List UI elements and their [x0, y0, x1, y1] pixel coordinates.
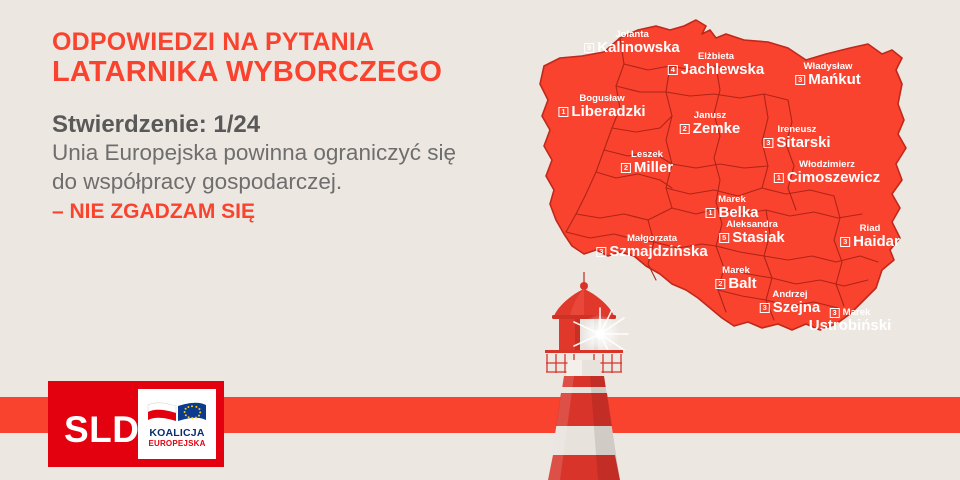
poster-canvas: ODPOWIEDZI NA PYTANIA LATARNIKA WYBORCZE… — [0, 0, 960, 480]
candidate-last-name: Miller — [634, 160, 673, 175]
district-number: 9 — [584, 43, 594, 53]
district-number: 2 — [715, 279, 725, 289]
headline-block: ODPOWIEDZI NA PYTANIA LATARNIKA WYBORCZE… — [52, 28, 492, 89]
candidate-last-name: Szmajdzińska — [609, 244, 707, 259]
district-number: 3 — [596, 247, 606, 257]
map-label-stasiak: Aleksandra 5 Stasiak — [719, 220, 785, 245]
koalicja-europejska-logo: KOALICJA EUROPEJSKA — [138, 389, 216, 459]
district-number: 1 — [774, 173, 784, 183]
map-label-jachlewska: Elżbieta 4 Jachlewska — [668, 52, 764, 77]
map-label-belka: Marek 1 Belka — [705, 195, 758, 220]
district-number: 2 — [680, 124, 690, 134]
candidate-last-name: Belka — [718, 205, 758, 220]
europejska-label: EUROPEJSKA — [148, 440, 205, 448]
map-label-zemke: Janusz 2 Zemke — [680, 111, 741, 136]
koalicja-label: KOALICJA — [149, 428, 204, 439]
statement-text: Unia Europejska powinna ograniczyć się d… — [52, 139, 472, 196]
statement-block: Stwierdzenie: 1/24 Unia Europejska powin… — [52, 110, 502, 225]
district-number: 1 — [558, 107, 568, 117]
map-label-sitarski: Ireneusz 3 Sitarski — [763, 125, 830, 150]
map-label-liberadzki: Bogusław 1 Liberadzki — [558, 94, 645, 119]
district-number: 3 — [840, 237, 850, 247]
candidate-last-name: Zemke — [693, 121, 741, 136]
district-number: 3 — [760, 303, 770, 313]
sld-logo-block: SLD — [48, 381, 224, 467]
candidate-last-name: Ustrobiński — [809, 318, 892, 333]
map-label-mankut: Władysław 3 Mańkut — [795, 62, 861, 87]
candidate-last-name: Balt — [728, 276, 756, 291]
map-label-ustrobinski: 3 Marek Ustrobiński — [809, 308, 892, 333]
map-label-kalinowska: Jolanta 9 Kalinowska — [584, 30, 680, 55]
candidate-last-name: Stasiak — [732, 230, 785, 245]
district-number: 2 — [621, 163, 631, 173]
district-number: 3 — [795, 75, 805, 85]
candidate-last-name: Cimoszewicz — [787, 170, 880, 185]
statement-answer: – NIE ZGADZAM SIĘ — [52, 198, 502, 225]
district-number: 4 — [668, 65, 678, 75]
flags-icon — [146, 400, 208, 426]
candidate-last-name: Liberadzki — [571, 104, 645, 119]
district-number: 1 — [705, 208, 715, 218]
headline-line-1: ODPOWIEDZI NA PYTANIA — [52, 28, 492, 56]
lighthouse-svg — [528, 272, 640, 480]
candidate-last-name: Jachlewska — [681, 62, 764, 77]
candidate-last-name: Haidar — [853, 234, 900, 249]
map-label-haidar: Riad 3 Haidar — [840, 224, 900, 249]
map-label-miller: Leszek 2 Miller — [621, 150, 673, 175]
map-label-szmajdzinska: Małgorzata 3 Szmajdzińska — [596, 234, 707, 259]
district-number: 5 — [719, 233, 729, 243]
district-number: 3 — [763, 138, 773, 148]
sld-wordmark: SLD — [48, 411, 140, 448]
lighthouse-illustration — [528, 272, 640, 480]
map-label-cimoszewicz: Włodzimierz 1 Cimoszewicz — [774, 160, 880, 185]
statement-counter: Stwierdzenie: 1/24 — [52, 110, 502, 139]
map-label-balt: Marek 2 Balt — [715, 266, 756, 291]
headline-line-2: LATARNIKA WYBORCZEGO — [52, 56, 492, 89]
candidate-last-name: Mańkut — [808, 72, 861, 87]
candidate-last-name: Sitarski — [776, 135, 830, 150]
